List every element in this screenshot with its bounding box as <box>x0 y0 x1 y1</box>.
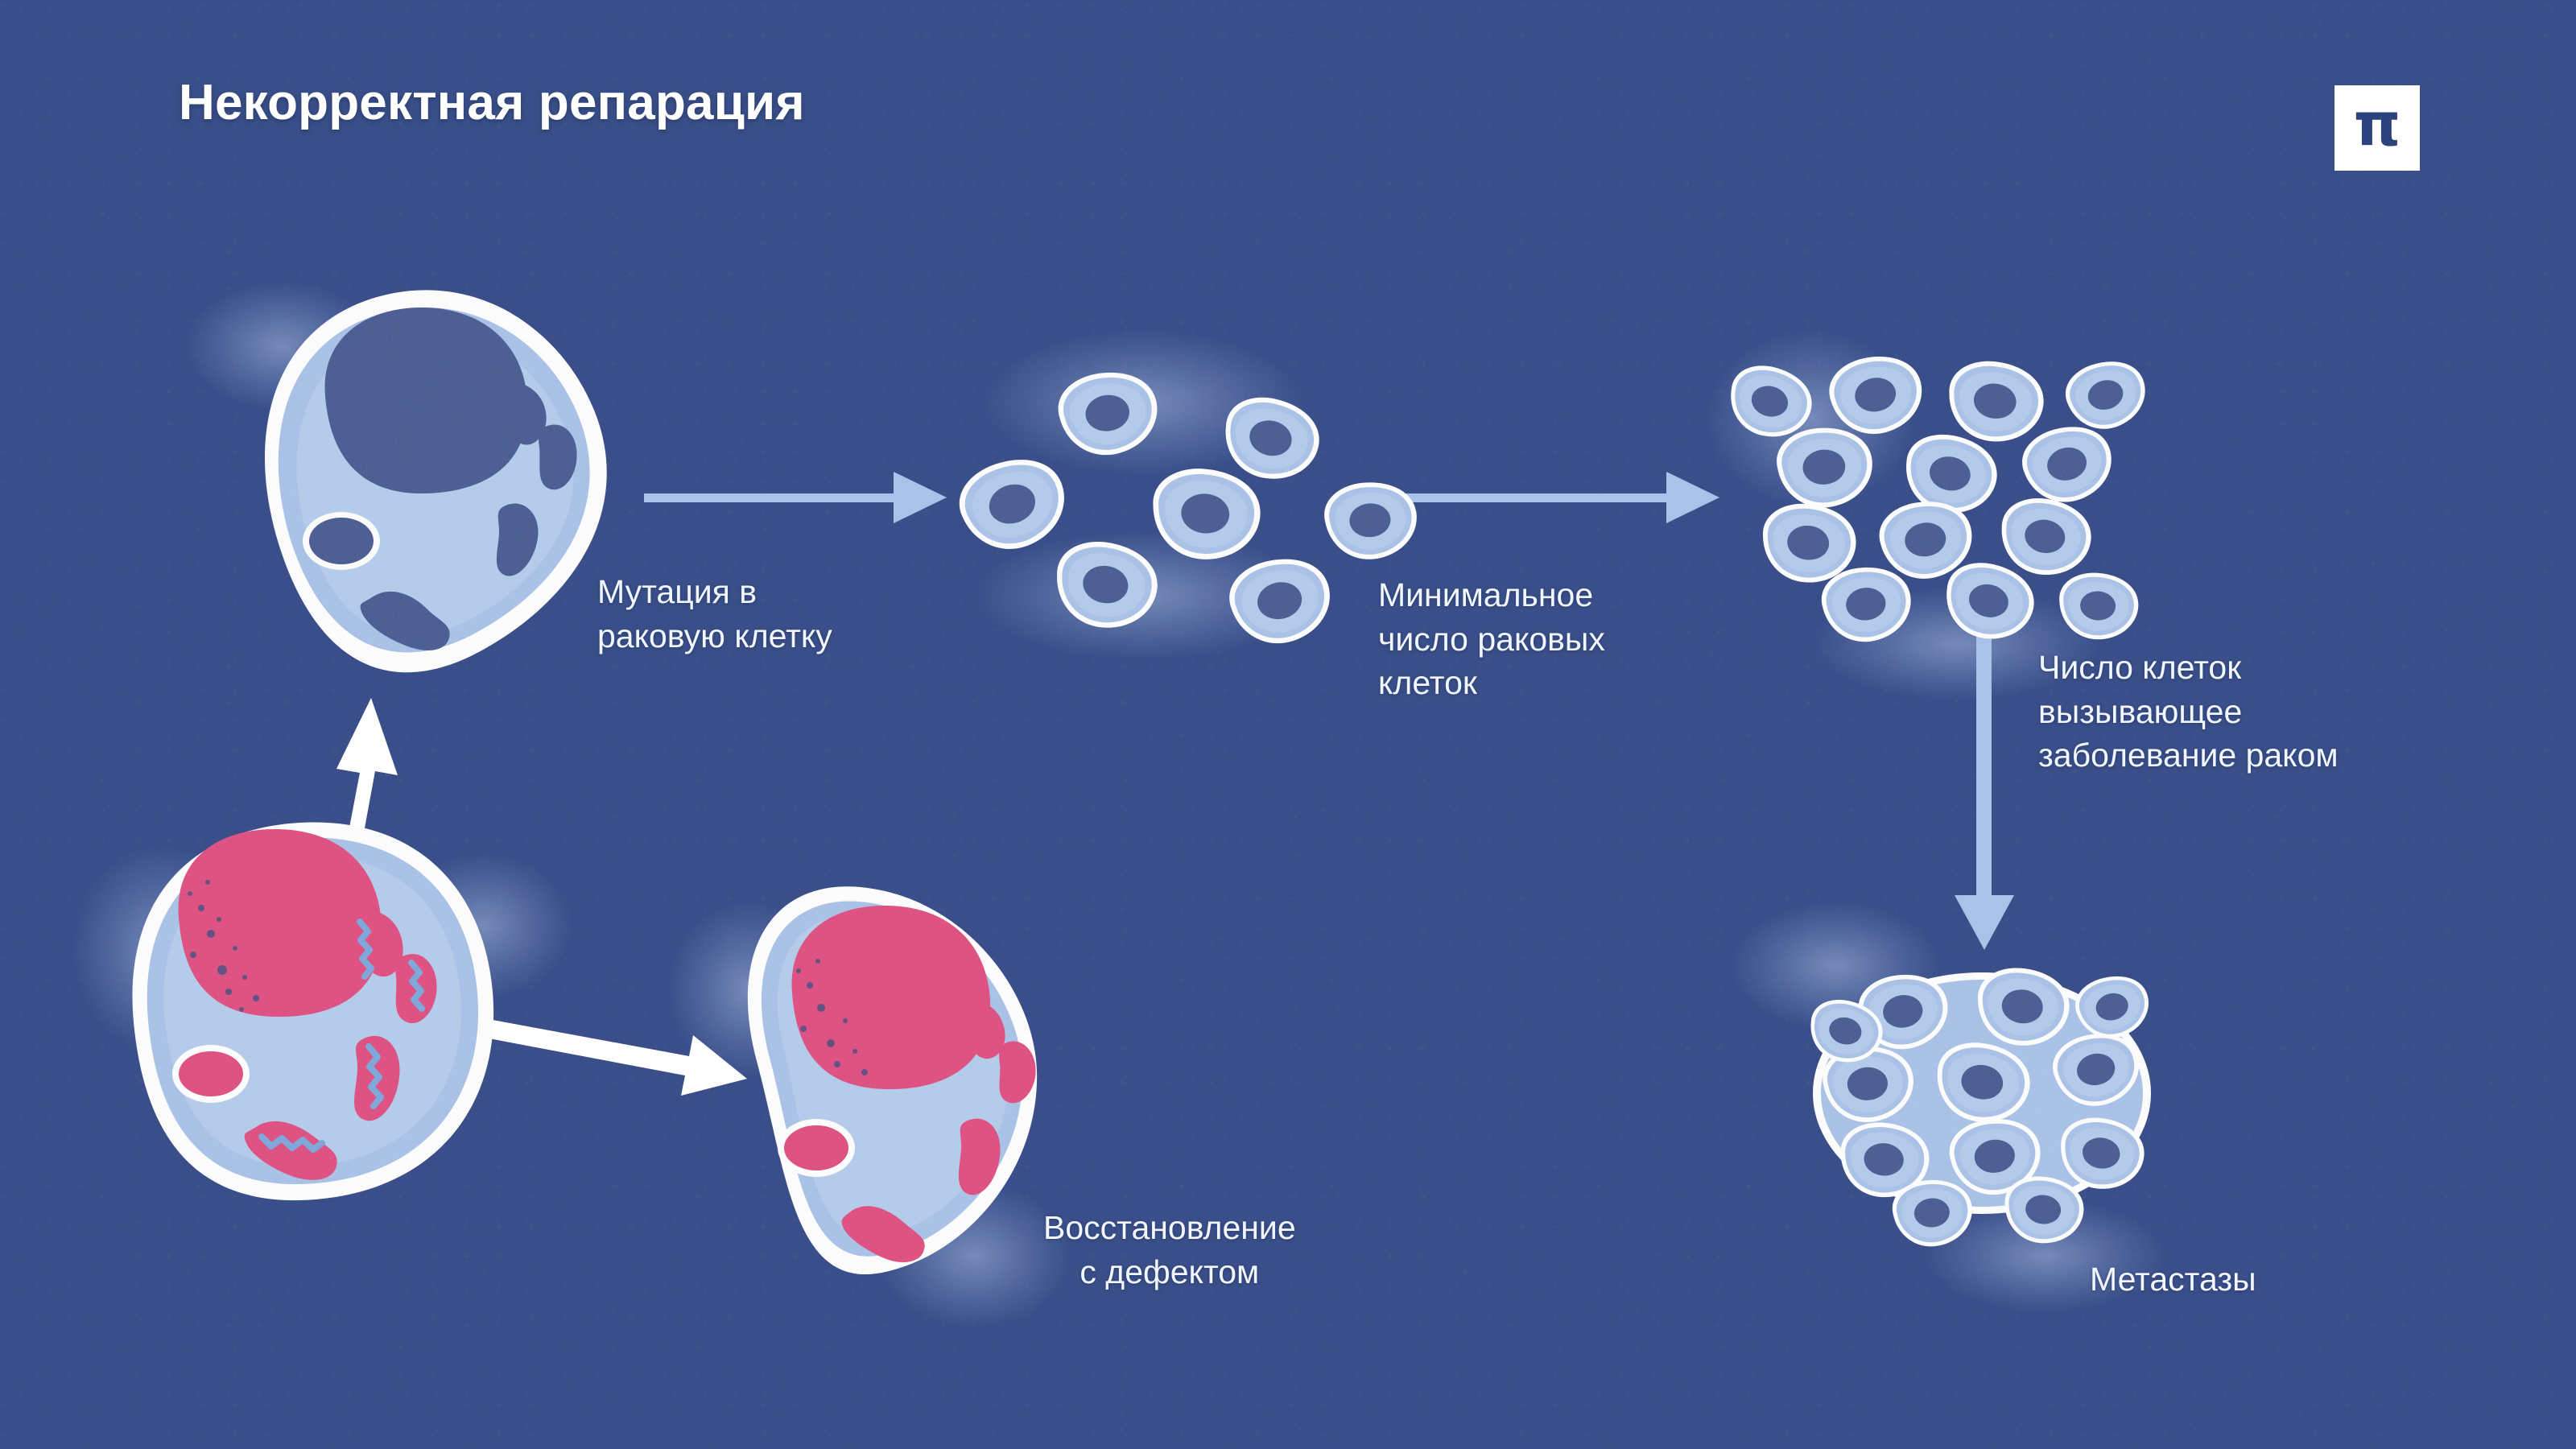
cancer-cell-mutated <box>265 290 607 672</box>
label-defective-repair: Восстановление с дефектом <box>1043 1206 1296 1294</box>
arrow-cluster-to-tumor <box>1397 472 1719 523</box>
label-metastases: Метастазы <box>2090 1257 2256 1302</box>
label-disease-causing-count: Число клеток вызывающее заболевание рако… <box>2038 646 2339 778</box>
arrow-cancer-to-cluster <box>644 472 947 523</box>
healthy-cell <box>132 822 493 1200</box>
page-title: Некорректная репарация <box>179 74 805 131</box>
postnauka-logo[interactable]: π <box>2334 85 2420 171</box>
label-mutation: Мутация в раковую клетку <box>597 570 832 658</box>
pi-icon: π <box>2354 101 2401 150</box>
label-minimal-cancer-cells: Минимальное число раковых клеток <box>1378 573 1605 705</box>
infographic-canvas: Некорректная репарация π Мутация в раков… <box>0 0 2576 1449</box>
